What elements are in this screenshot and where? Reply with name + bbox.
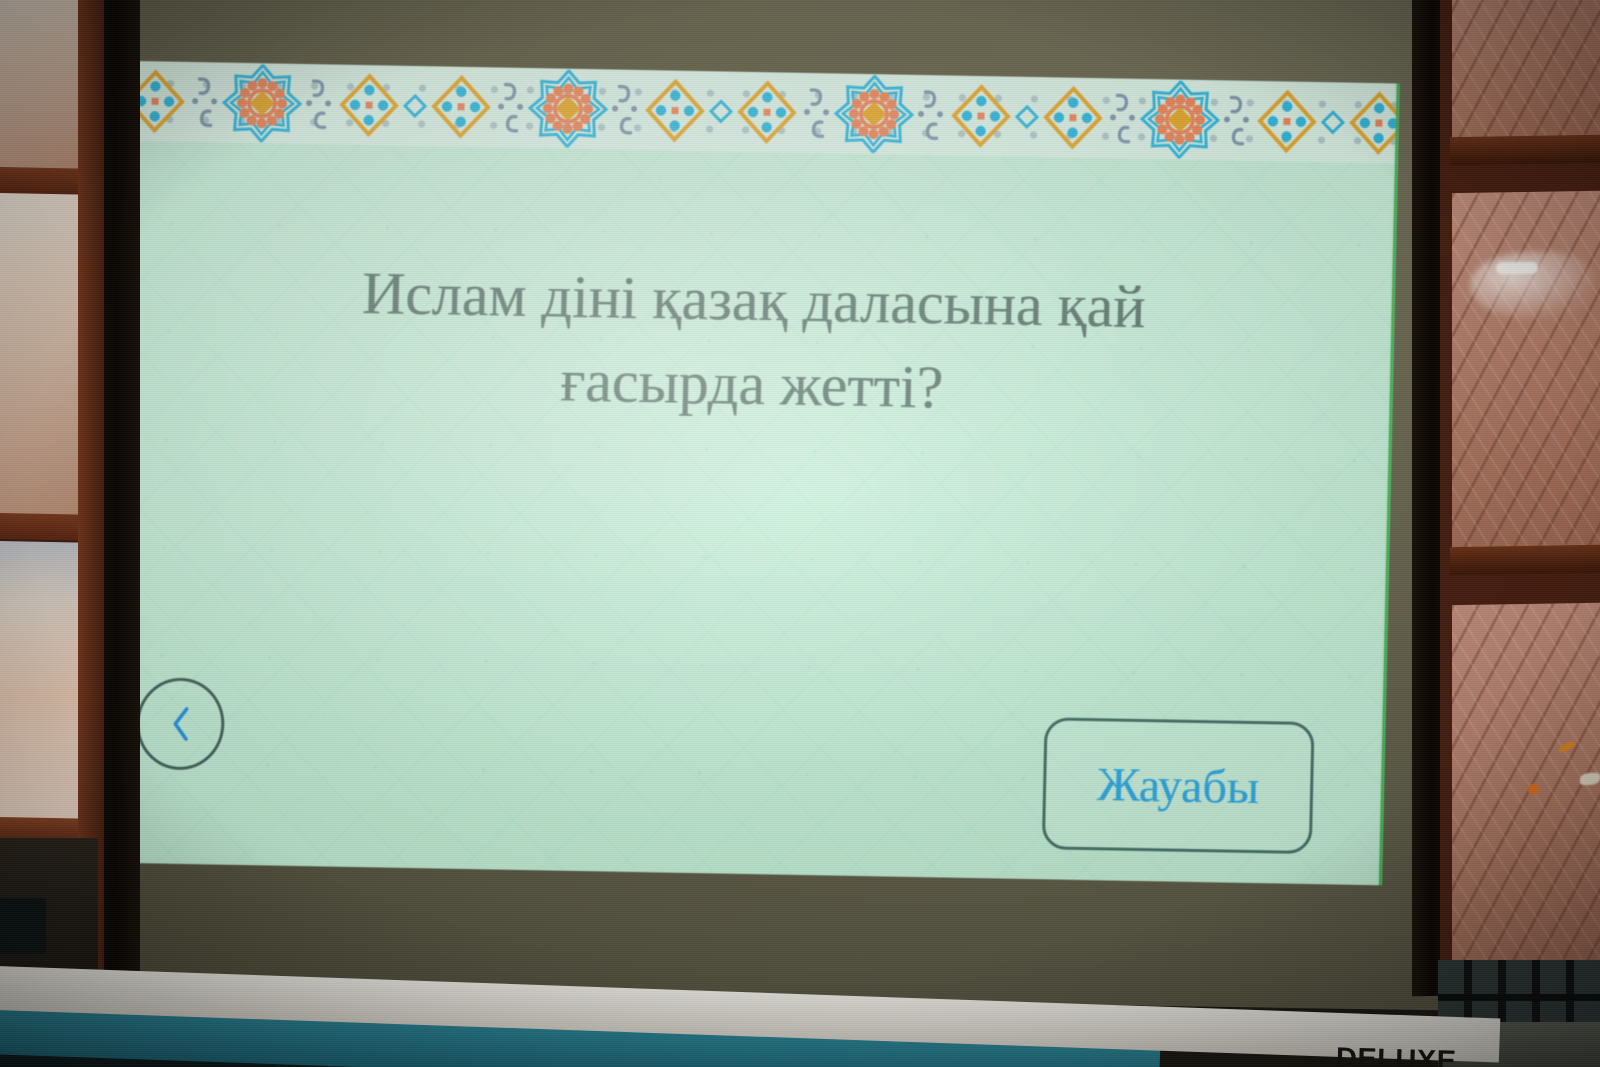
ornament-small-diamond bbox=[708, 98, 735, 124]
chevron-left-icon bbox=[170, 706, 191, 742]
ornament-small-diamond bbox=[402, 93, 429, 119]
classroom-photo-scene: Ислам діні қазақ даласына қай ғасырда же… bbox=[0, 0, 1600, 1067]
right-window-pane bbox=[1452, 602, 1600, 995]
right-window-pane bbox=[1452, 190, 1600, 549]
question-line-1: Ислам діні қазақ даласына қай bbox=[265, 249, 1243, 350]
ornament-diamond-motif bbox=[427, 70, 495, 143]
question-line-2: ғасырда жетті? bbox=[263, 333, 1241, 434]
ornament-small-diamond bbox=[1320, 109, 1347, 135]
ornament-diamond-motif bbox=[947, 79, 1015, 152]
ornament-diamond-motif bbox=[1039, 81, 1107, 154]
ornament-star-motif bbox=[833, 74, 915, 153]
ornament-diamond-motif bbox=[733, 76, 801, 149]
ornament-diamond-motif bbox=[1253, 85, 1321, 158]
radiator-rail bbox=[1438, 994, 1600, 1001]
ornament-swirl-motif bbox=[301, 68, 337, 141]
ornament-swirl-motif bbox=[1219, 84, 1255, 157]
ornament-swirl-motif bbox=[799, 77, 835, 150]
question-text: Ислам діні қазақ даласына қай ғасырда же… bbox=[263, 249, 1243, 434]
right-window bbox=[1440, 0, 1600, 995]
ornament-diamond-motif bbox=[335, 69, 403, 142]
projected-slide: Ислам діні қазақ даласына қай ғасырда же… bbox=[103, 61, 1397, 886]
ornament-diamond-motif bbox=[641, 74, 709, 147]
right-window-mullion bbox=[1450, 134, 1600, 165]
slide-canvas: Ислам діні қазақ даласына қай ғасырда же… bbox=[103, 61, 1397, 886]
ornament-swirl-motif bbox=[913, 79, 949, 152]
projector-brand-mark: DELUXE bbox=[1336, 1042, 1457, 1067]
right-window-pane bbox=[1452, 0, 1600, 139]
left-window-pane bbox=[0, 0, 82, 171]
ornament-star-motif bbox=[527, 69, 609, 148]
ornament-swirl-motif bbox=[1105, 82, 1141, 155]
ornament-small-diamond bbox=[1014, 104, 1041, 130]
ornament-diamond-motif bbox=[1345, 87, 1397, 160]
ornament-star-motif bbox=[221, 64, 303, 143]
ornament-swirl-motif bbox=[607, 73, 643, 146]
ornament-star-motif bbox=[1139, 80, 1221, 159]
right-window-mullion bbox=[1450, 544, 1600, 575]
left-window-pane bbox=[0, 189, 82, 521]
ornament-swirl-motif bbox=[187, 66, 223, 139]
answer-button[interactable]: Жауабы bbox=[1042, 717, 1315, 854]
left-window-pane bbox=[0, 541, 82, 823]
outdoor-lamp-reflection bbox=[1496, 262, 1538, 275]
ornament-swirl-motif bbox=[493, 71, 529, 144]
answer-button-label: Жауабы bbox=[1097, 757, 1260, 815]
